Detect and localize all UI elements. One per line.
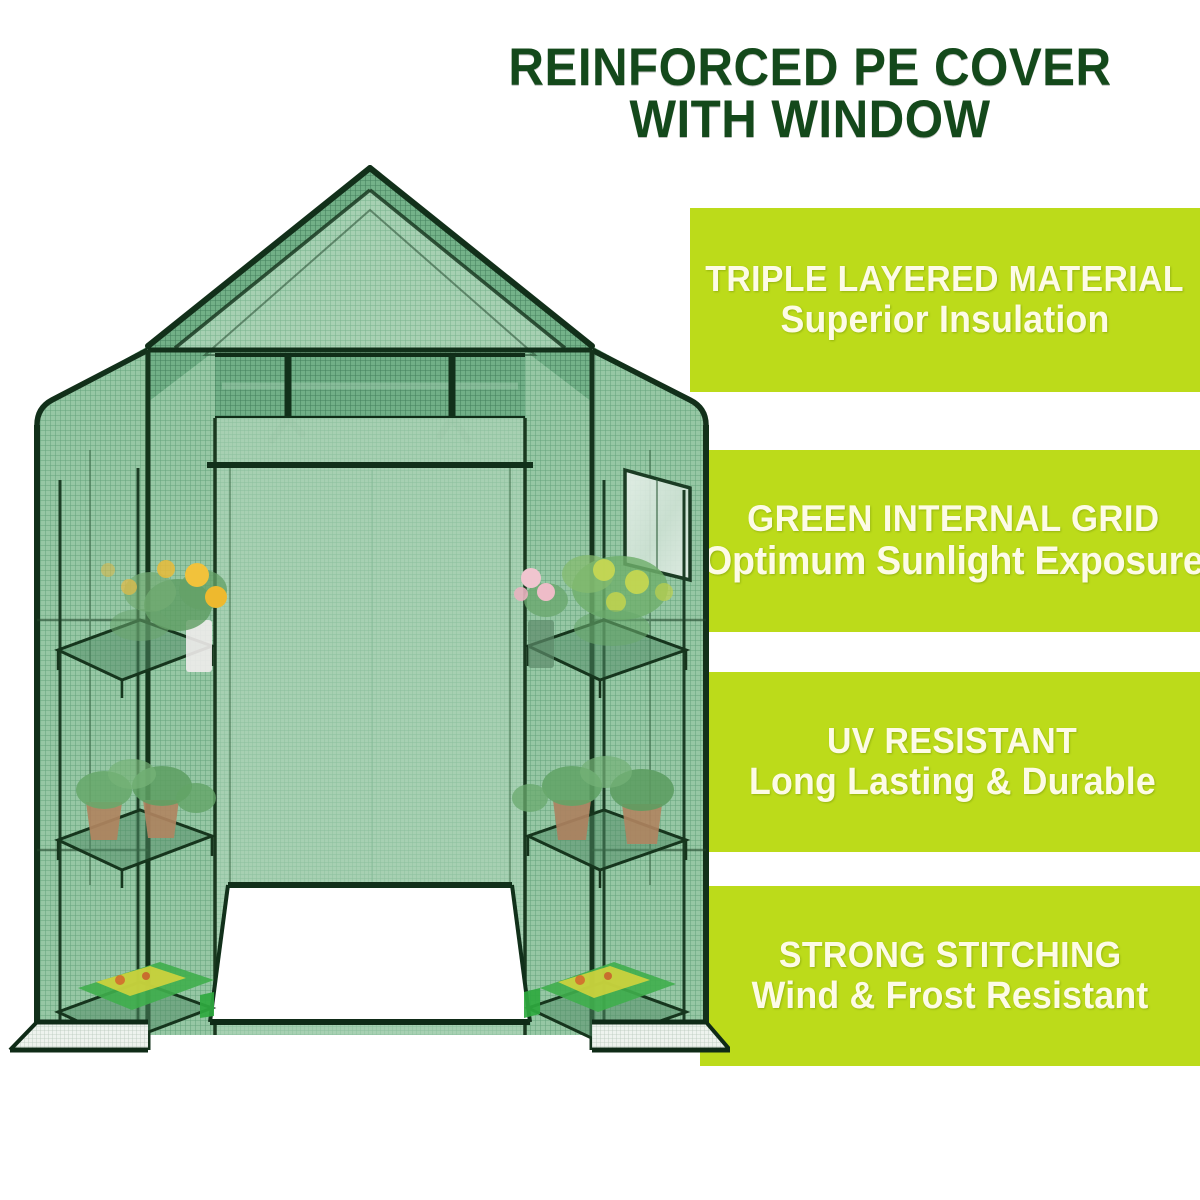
greenhouse-structure [10,168,730,1050]
greenhouse-product-image [0,150,730,1080]
feature-subheading: Wind & Frost Resistant [752,975,1149,1018]
page-title-line-2: WITH WINDOW [457,94,1164,146]
feature-heading: UV RESISTANT [827,721,1077,761]
feature-heading: GREEN INTERNAL GRID [747,498,1159,539]
feature-bar-strong-stitching: STRONG STITCHING Wind & Frost Resistant [700,886,1200,1066]
feature-subheading: Long Lasting & Durable [749,761,1156,804]
feature-heading: TRIPLE LAYERED MATERIAL [706,259,1185,299]
feature-subheading: Superior Insulation [780,299,1109,342]
feature-subheading: Optimum Sunlight Exposure [703,539,1200,584]
page-title: REINFORCED PE COVER WITH WINDOW [430,42,1190,146]
feature-bar-green-internal-grid: GREEN INTERNAL GRID Optimum Sunlight Exp… [706,450,1200,632]
product-marketing-image: REINFORCED PE COVER WITH WINDOW TRIPLE L… [0,0,1200,1200]
feature-bar-triple-layered-material: TRIPLE LAYERED MATERIAL Superior Insulat… [690,208,1200,392]
page-title-line-1: REINFORCED PE COVER [457,42,1164,94]
doorway-opening [210,885,530,1022]
roof-gable-face [175,190,565,348]
feature-bar-uv-resistant: UV RESISTANT Long Lasting & Durable [704,672,1200,852]
front-door-assembly [207,355,533,1035]
feature-heading: STRONG STITCHING [779,935,1122,975]
